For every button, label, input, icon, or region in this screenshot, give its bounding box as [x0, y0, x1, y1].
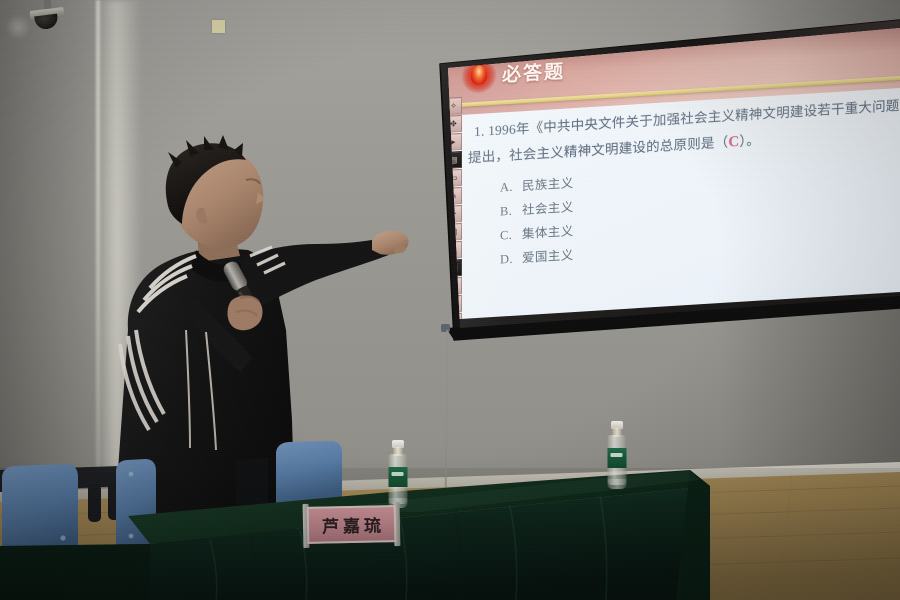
name-plate-card: 芦嘉琉: [307, 505, 397, 544]
bottle-label: [389, 467, 408, 487]
name-plate-text: 芦嘉琉: [318, 511, 386, 537]
water-bottle-right: [604, 421, 630, 497]
name-plate: 芦嘉琉: [303, 502, 401, 548]
bottle-label: [608, 448, 627, 468]
bottle-base: [608, 479, 627, 489]
furniture: [0, 0, 900, 600]
presentation-room-photo: 必答题 1. 1996年《中共中央文件关于加强社会主义精神文明建设若干重大问题的…: [0, 0, 900, 600]
